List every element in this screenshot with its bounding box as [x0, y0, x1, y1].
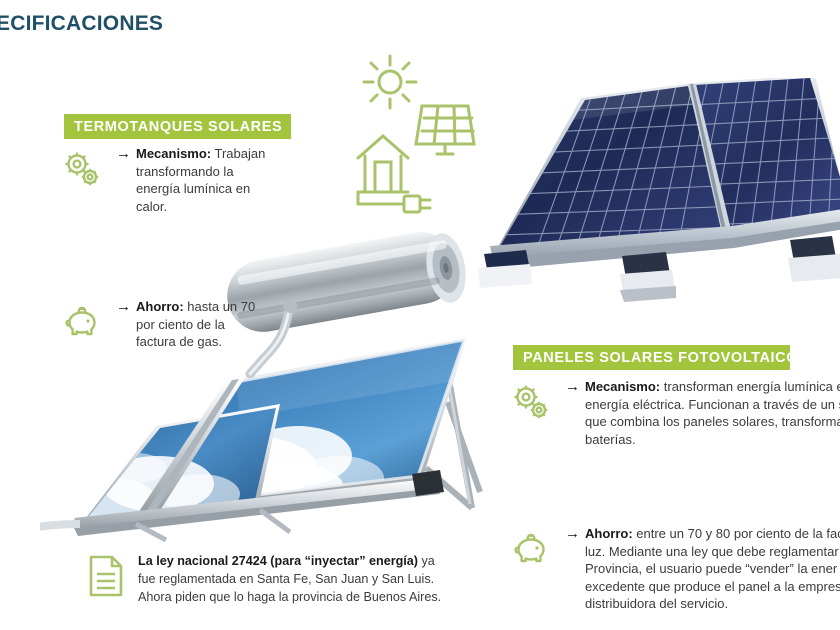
document-icon: [88, 554, 124, 603]
page-title: ECIFICACIONES: [0, 12, 163, 36]
law-note-label: La ley nacional 27424 (para “inyectar” e…: [138, 554, 418, 568]
gears-icon: [62, 149, 102, 194]
bullet-text: Mecanismo: Trabajan transformando la ene…: [136, 145, 265, 215]
illustration-icon-cluster: [352, 52, 492, 237]
section-banner-termotanques: TERMOTANQUES SOLARES: [64, 114, 291, 139]
piggy-bank-icon: [511, 529, 551, 574]
bullet-text: Mecanismo: transforman energía lumínica …: [585, 378, 840, 448]
bullet-text: Ahorro: hasta un 70 por ciento de la fac…: [136, 298, 255, 351]
bullet-text: Ahorro: entre un 70 y 80 por ciento de l…: [585, 525, 840, 613]
bullet-mecanismo-paneles: → Mecanismo: transforman energía lumínic…: [511, 378, 840, 448]
law-note-text: La ley nacional 27424 (para “inyectar” e…: [138, 552, 441, 606]
bullet-ahorro-paneles: → Ahorro: entre un 70 y 80 por ciento de…: [511, 525, 840, 613]
section-banner-paneles: PANELES SOLARES FOTOVOLTAICOS: [513, 345, 790, 370]
arrow-bullet-icon: →: [116, 298, 131, 315]
infographic-canvas: ECIFICACIONES TERMOTANQUES SOLARES: [0, 0, 840, 630]
bullet-label: Mecanismo:: [585, 379, 660, 394]
law-note: La ley nacional 27424 (para “inyectar” e…: [88, 552, 441, 606]
solar-panel-icon: [416, 106, 474, 154]
bullet-label: Ahorro:: [585, 526, 633, 541]
solar-thermal-tank-photo: [40, 232, 540, 542]
bullet-ahorro-termotanques: → Ahorro: hasta un 70 por ciento de la f…: [62, 298, 255, 351]
piggy-bank-icon: [62, 302, 102, 347]
gears-icon: [511, 382, 551, 427]
arrow-bullet-icon: →: [565, 378, 580, 395]
bullet-label: Mecanismo:: [136, 146, 211, 161]
sun-icon: [364, 56, 416, 108]
arrow-bullet-icon: →: [116, 145, 131, 162]
house-plug-icon: [358, 136, 430, 212]
bullet-label: Ahorro:: [136, 299, 184, 314]
arrow-bullet-icon: →: [565, 525, 580, 542]
bullet-mecanismo-termotanques: → Mecanismo: Trabajan transformando la e…: [62, 145, 265, 215]
